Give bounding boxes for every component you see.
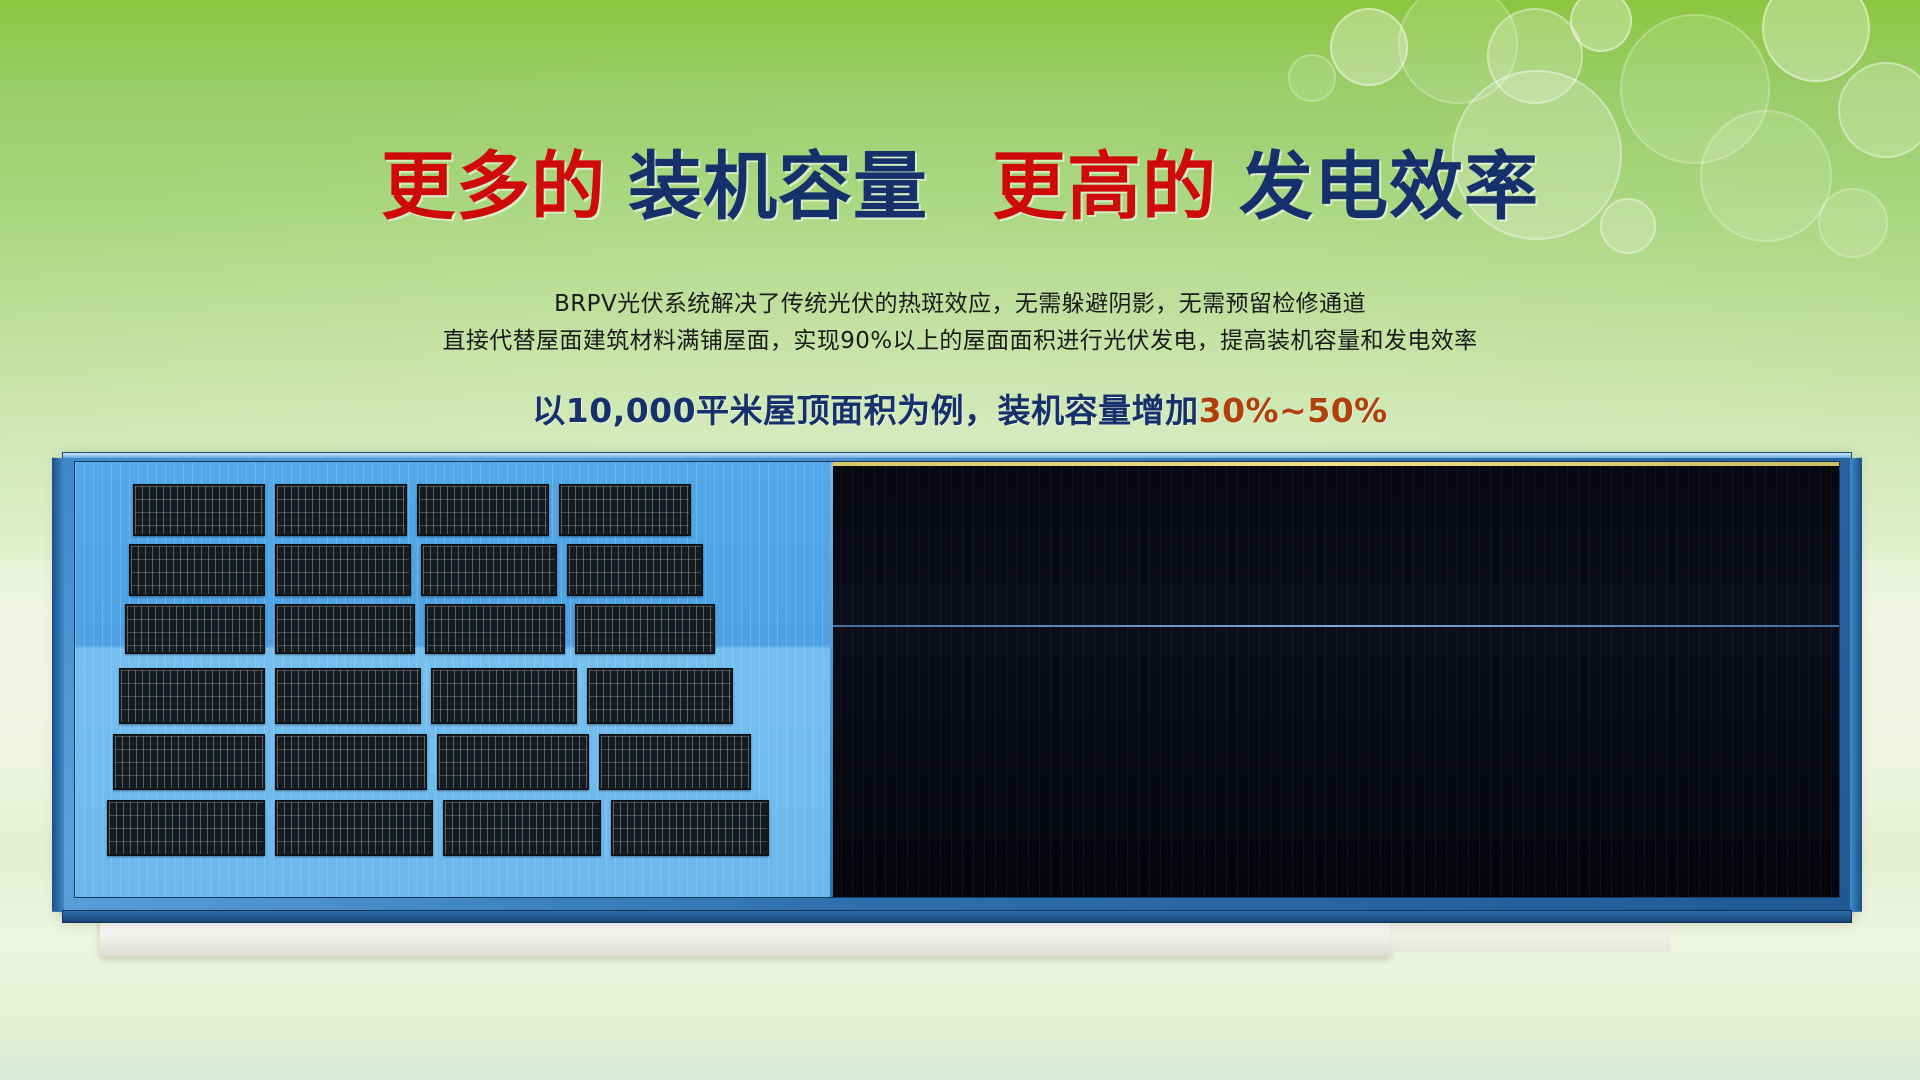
subtitle-line-1: BRPV光伏系统解决了传统光伏的热斑效应，无需躲避阴影，无需预留检修通道	[0, 286, 1920, 323]
brpv-roof-zone	[830, 462, 1839, 897]
pv-array-module	[425, 604, 565, 654]
pv-array-module	[275, 734, 427, 790]
panel-inner-area	[74, 461, 1840, 898]
brpv-top-edge	[830, 462, 1839, 466]
panel-left-edge	[52, 458, 64, 913]
panel-bottom-edge	[62, 910, 1852, 923]
title-part2-navy: 发电效率	[1239, 144, 1539, 230]
emphasis-line: 以10,000平米屋顶面积为例，装机容量增加30%~50%	[0, 384, 1920, 432]
pv-array-module	[125, 604, 265, 654]
subtitle-line-2: 直接代替屋面建筑材料满铺屋面，实现90%以上的屋面面积进行光伏发电，提高装机容量…	[0, 323, 1920, 360]
pv-array-module	[559, 484, 691, 536]
pv-array-module	[119, 668, 265, 724]
pv-array-module	[275, 604, 415, 654]
pv-array-module	[275, 668, 421, 724]
solar-roof-panel	[62, 452, 1852, 912]
page-title: 更多的装机容量更高的发电效率	[0, 150, 1920, 224]
traditional-roof-zone	[75, 462, 830, 897]
pv-array-module	[611, 800, 769, 856]
pv-array-module	[107, 800, 265, 856]
pv-array-module	[421, 544, 557, 596]
brpv-horizontal-seam	[830, 625, 1839, 627]
pv-array-module	[567, 544, 703, 596]
subtitle-block: BRPV光伏系统解决了传统光伏的热斑效应，无需躲避阴影，无需预留检修通道 直接代…	[0, 286, 1920, 360]
pv-array-module	[275, 544, 411, 596]
title-part1-red: 更多的	[381, 144, 606, 230]
pv-array-module	[275, 800, 433, 856]
pv-array-module	[129, 544, 265, 596]
roof-comparison-illustration	[0, 540, 1920, 1080]
pv-array-module	[113, 734, 265, 790]
pv-array-module	[431, 668, 577, 724]
emphasis-percent: 30%~50%	[1199, 391, 1388, 430]
pv-array-module	[575, 604, 715, 654]
pv-array-module	[443, 800, 601, 856]
panel-frame-highlight	[63, 453, 1851, 458]
brpv-left-edge	[830, 462, 833, 897]
title-part2-red: 更高的	[992, 144, 1217, 230]
pv-array-module	[417, 484, 549, 536]
pv-array-module	[133, 484, 265, 536]
pv-array-module	[587, 668, 733, 724]
title-part1-navy: 装机容量	[628, 144, 928, 230]
pv-array-module	[437, 734, 589, 790]
panel-right-edge	[1850, 458, 1862, 913]
pv-array-module	[275, 484, 407, 536]
emphasis-prefix: 以10,000平米屋顶面积为例，装机容量增加	[532, 391, 1198, 430]
pv-array-module	[599, 734, 751, 790]
